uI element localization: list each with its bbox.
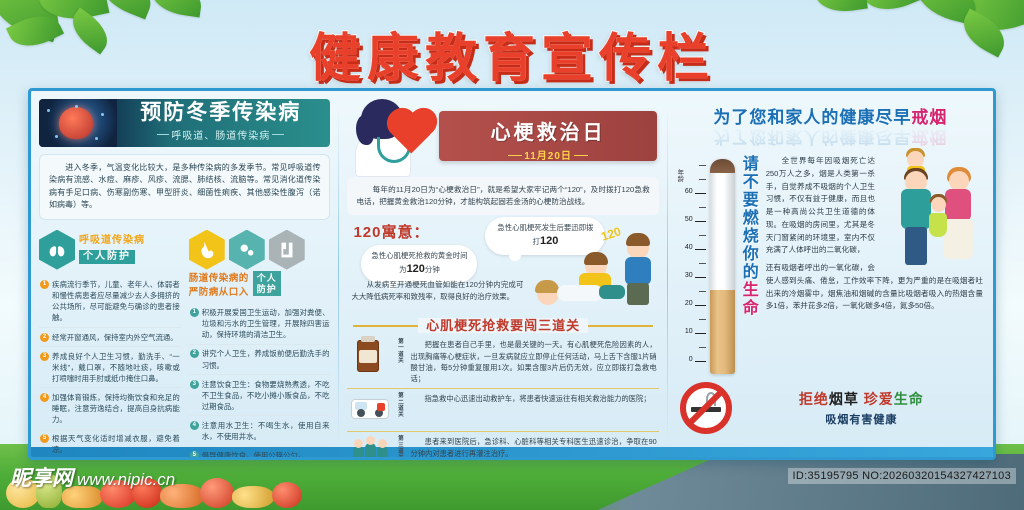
age-tick-0: 0 (689, 356, 693, 363)
pass-tag-2: 第二道关 (396, 393, 405, 418)
list-item-text: 积极开展爱国卫生运动，加强对粪便、垃圾和污水的卫生管理，开展除四害运动，保持环境… (202, 307, 330, 340)
list-item: 3注意饮食卫生：食物要烧熟煮透，不吃不卫生食品，不吃小摊小贩食品，不吃过期食品。 (189, 375, 331, 416)
ambulance-icon (349, 393, 391, 427)
intestinal-badge-text-row: 肠道传染病的 严防病从口入 个人 防护 (189, 268, 331, 300)
cigarette-ash (710, 159, 735, 173)
no-smoking-icon (680, 382, 732, 434)
quit-smoking-footer: 拒绝烟草 珍爱生命 吸烟有害健康 (676, 382, 985, 434)
three-pass-title: 心肌梗死抢救要闯三道关 (418, 318, 588, 333)
slogan-tobacco: 烟草 (829, 391, 859, 407)
section-120-meaning: 120寓意： 急性心肌梗死发生后要迅即拨打120 急性心肌梗死抢救的黄金时间为1… (347, 217, 658, 313)
list-item-text: 养成良好个人卫生习惯，勤洗手、“一米线”，戴口罩，不随地吐痰，咳嗽或打喷嚏时用手… (52, 351, 180, 384)
slogan-refuse: 拒绝 (799, 391, 829, 407)
watermark-left: 昵享网 www.nipic.cn (10, 462, 175, 492)
watermark-id: ID:35195795 NO:20260320154327427103 (788, 468, 1016, 484)
respiratory-art-icon (39, 99, 117, 147)
slogan-life: 生命 (894, 391, 924, 407)
intestinal-badge-row (189, 228, 331, 272)
stomach-icon (189, 230, 225, 270)
pass-tag-3: 第三道关 (396, 436, 405, 460)
vertical-slogan-red: 生命 (740, 281, 757, 317)
heart-day-date: 11月20日 (508, 147, 588, 162)
heart-day-banner: 心梗救治日 11月20日 (439, 111, 656, 161)
age-tick-60: 60 (685, 188, 693, 195)
zigzag-120-label: 120 (599, 225, 622, 245)
medicine-bottle-icon (349, 339, 391, 373)
section-120-title: 120寓意： (353, 221, 429, 242)
list-item: 5根据天气变化适时增减衣服，避免着凉。 (39, 430, 181, 460)
panel-quit-smoking: 为了您和家人的健康尽早戒烟 为了您和家人的健康尽早戒烟 年龄 60 50 40 (668, 91, 993, 457)
list-item: 1积极开展爱国卫生运动，加强对粪便、垃圾和污水的卫生管理，开展除四害运动，保持环… (189, 304, 331, 345)
cigarette-filter (710, 290, 735, 374)
list-item: 4注意用水卫生：不喝生水，使用自来水，不使用井水。 (189, 416, 331, 446)
medical-team-icon (349, 436, 391, 460)
doctor-illustration (351, 97, 437, 175)
respiratory-badge-line1: 呼吸道传染病 (79, 235, 145, 248)
age-scale: 年龄 60 50 40 30 20 10 0 (676, 163, 706, 371)
right-panel-title-reflection: 为了您和家人的健康尽早戒烟 (676, 126, 985, 151)
list-item-text: 根据天气变化适时增减衣服，避免着凉。 (52, 433, 180, 455)
slogan-cherish: 珍爱 (864, 391, 894, 407)
list-item: 2经常开窗通风，保持室内外空气流通。 (39, 328, 181, 347)
bulletin-board: 预防冬季传染病 呼吸道、肠道传染病 进入冬季，气温变化比较大，是多种传染病的多发… (28, 88, 996, 460)
age-tick-30: 30 (685, 272, 693, 279)
cigarette-graphic (710, 159, 735, 374)
cigarette-thermometer: 年龄 60 50 40 30 20 10 0 (676, 155, 762, 380)
left-panel-subtitle: 呼吸道、肠道传染病 (157, 127, 284, 142)
personal-protection-badge: 个人 防护 (253, 271, 281, 297)
pass-text-2: 指急救中心迅速出动救护车，将患者快速运往有相关救治能力的医院； (424, 394, 650, 403)
vertical-slogan: 请不要燃烧你的生命 (736, 155, 760, 375)
pass-item-3: 第三道关 患者来到医院后，急诊科、心脏科等相关专科医生迅速诊治，争取在90分钟内… (347, 432, 658, 460)
list-item: 5倡导健康饮食，使用公筷公勺。 (189, 447, 331, 460)
list-item: 2讲究个人卫生，养成饭前便后勤洗手的习惯。 (189, 345, 331, 375)
three-pass-divider: 心肌梗死抢救要闯三道关 (347, 315, 658, 335)
page-title: 健康教育宣传栏 (0, 16, 1024, 91)
smoking-text: 全世界每年因吸烟死亡达250万人之多，烟是人类第一杀手，自觉养成不吸烟的个人卫生… (766, 155, 985, 380)
pass-text-1: 把握在患者自己手里，也是最关键的一天。有心肌梗死危险因素的人，出现胸痛等心梗症状… (410, 340, 656, 383)
smoking-paragraph-2-text: 还有吸烟者呼出的一氧化碳，会使人感到头痛、倦怠，工作效率下降，更为严重的是在吸烟… (766, 263, 983, 310)
intestine-icon (269, 230, 305, 270)
slogan-line-2: 吸烟有害健康 (738, 411, 985, 427)
heart-day-intro-text: 每年的11月20日为“心梗救治日”，就是希望大家牢记两个“120”，及时拨打12… (356, 185, 649, 206)
list-item-text: 注意用水卫生：不喝生水，使用自来水，不使用井水。 (202, 420, 330, 442)
pass-text-1-wrap: 把握在患者自己手里，也是最关键的一天。有心肌梗死危险因素的人，出现胸痛等心梗症状… (410, 339, 656, 384)
speech-bubble-1: 急性心肌梗死抢救的黄金时间为120分钟 (361, 245, 477, 283)
respiratory-badge-label: 呼吸道传染病 个人防护 (79, 235, 145, 264)
smoking-paragraph-1-text: 全世界每年因吸烟死亡达250万人之多，烟是人类第一杀手，自觉养成不吸烟的个人卫生… (766, 156, 875, 254)
right-panel-title-red: 戒烟 (911, 108, 947, 127)
heart-day-intro: 每年的11月20日为“心梗救治日”，就是希望大家牢记两个“120”，及时拨打12… (347, 177, 658, 215)
age-tick-10: 10 (685, 328, 693, 335)
list-item: 1疾病流行季节，儿童、老年人、体弱者和慢性病患者应尽量减少去人多拥挤的公共场所，… (39, 276, 181, 328)
list-item-text: 讲究个人卫生，养成饭前便后勤洗手的习惯。 (202, 348, 330, 370)
pass-text-2-wrap: 指急救中心迅速出动救护车，将患者快速运往有相关救治能力的医院； (410, 393, 650, 404)
slogan-line-1: 拒绝烟草 珍爱生命 (738, 389, 985, 409)
panel-winter-infectious-disease: 预防冬季传染病 呼吸道、肠道传染病 进入冬季，气温变化比较大，是多种传染病的多发… (31, 91, 338, 457)
age-tick-40: 40 (685, 244, 693, 251)
age-tick-20: 20 (685, 300, 693, 307)
watermark-logo: 昵享网 (10, 462, 73, 492)
pass-text-3: 患者来到医院后，急诊科、心脏科等相关专科医生迅速诊治，争取在90分钟内对患者进行… (410, 437, 656, 457)
section-120-note-text: 从发病至开通梗死血管如能在120分钟内完成可大大降低病死率和致残率，取得良好的治… (351, 280, 523, 300)
intestinal-column: 肠道传染病的 严防病从口入 个人 防护 1积极开展爱国卫生运动，加强对粪便、垃圾… (189, 228, 331, 460)
pass-tag-1: 第一道关 (396, 339, 405, 364)
list-item: 4加强体育锻炼，保持均衡饮食和充足的睡眠，注意劳逸结合，提高自身抗病能力。 (39, 388, 181, 429)
lungs-icon (39, 230, 75, 270)
right-panel-body: 年龄 60 50 40 30 20 10 0 (676, 155, 985, 380)
list-item-text: 加强体育锻炼，保持均衡饮食和充足的睡眠，注意劳逸结合，提高自身抗病能力。 (52, 392, 180, 425)
age-tick-50: 50 (685, 216, 693, 223)
germ-icon (229, 230, 265, 270)
personal-protection-line2: 防护 (257, 284, 277, 295)
speech-bubble-1-unit: 分钟 (425, 265, 440, 274)
smoking-paragraph-2: 还有吸烟者呼出的一氧化碳，会使人感到头痛、倦怠，工作效率下降，更为严重的是在吸烟… (766, 262, 983, 313)
respiratory-column: 呼吸道传染病 个人防护 1疾病流行季节，儿童、老年人、体弱者和慢性病患者应尽量减… (39, 228, 181, 460)
left-panel-intro: 进入冬季，气温变化比较大，是多种传染病的多发季节。常见呼吸道传染病有流感、水痘、… (39, 154, 330, 220)
left-panel-intro-text: 进入冬季，气温变化比较大，是多种传染病的多发季节。常见呼吸道传染病有流感、水痘、… (49, 163, 320, 209)
respiratory-badge-row: 呼吸道传染病 个人防护 (39, 228, 181, 272)
panel-heart-attack-day: 心梗救治日 11月20日 每年的11月20日为“心梗救治日”，就是希望大家牢记两… (339, 91, 666, 457)
right-panel-title-blue: 为了您和家人的健康尽早 (713, 108, 911, 127)
left-panel-header: 预防冬季传染病 呼吸道、肠道传染病 (39, 99, 330, 147)
right-panel-header: 为了您和家人的健康尽早戒烟 为了您和家人的健康尽早戒烟 (676, 99, 985, 151)
quit-smoking-slogan: 拒绝烟草 珍爱生命 吸烟有害健康 (738, 389, 985, 427)
section-120-note: 从发病至开通梗死血管如能在120分钟内完成可大大降低病死率和致残率，取得良好的治… (351, 279, 523, 302)
respiratory-items: 1疾病流行季节，儿童、老年人、体弱者和慢性病患者应尽量减少去人多拥挤的公共场所，… (39, 276, 181, 460)
list-item-text: 倡导健康饮食，使用公筷公勺。 (202, 450, 305, 460)
list-item-text: 疾病流行季节，儿童、老年人、体弱者和慢性病患者应尽量减少去人多拥挤的公共场所，尽… (52, 279, 180, 323)
speech-bubble-1-number: 120 (407, 263, 425, 275)
watermark-url: www.nipic.cn (77, 470, 175, 490)
intestinal-badge-line1: 肠道传染病的 (189, 270, 249, 284)
vertical-slogan-blue: 请不要燃烧你的 (740, 155, 757, 281)
pass-item-2: 第二道关 指急救中心迅速出动救护车，将患者快速运往有相关救治能力的医院； (347, 389, 658, 432)
respiratory-badge-line2: 个人防护 (79, 250, 135, 265)
left-panel-title: 预防冬季传染病 (117, 102, 324, 124)
middle-panel-header: 心梗救治日 11月20日 (347, 99, 658, 173)
heart-day-title: 心梗救治日 (439, 116, 656, 145)
right-panel-title: 为了您和家人的健康尽早戒烟 (676, 103, 985, 128)
pass-text-3-wrap: 患者来到医院后，急诊科、心脏科等相关专科医生迅速诊治，争取在90分钟内对患者进行… (410, 436, 656, 459)
list-item-text: 注意饮食卫生：食物要烧熟煮透，不吃不卫生食品，不吃小摊小贩食品，不吃过期食品。 (202, 379, 330, 412)
intestinal-items: 1积极开展爱国卫生运动，加强对粪便、垃圾和污水的卫生管理，开展除四害运动，保持环… (189, 304, 331, 460)
family-illustration (879, 155, 983, 267)
page-title-wrap: 健康教育宣传栏 (0, 16, 1024, 91)
age-scale-label: 年龄 (674, 169, 684, 182)
kids-illustration: 120 (529, 225, 659, 313)
list-item: 3养成良好个人卫生习惯，勤洗手、“一米线”，戴口罩，不随地吐痰，咳嗽或打喷嚏时用… (39, 347, 181, 388)
personal-protection-line1: 个人 (257, 273, 277, 284)
pass-item-1: 第一道关 把握在患者自己手里，也是最关键的一天。有心肌梗死危险因素的人，出现胸痛… (347, 335, 658, 389)
intestinal-badge-line2: 严防病从口入 (189, 284, 249, 298)
list-item-text: 经常开窗通风，保持室内外空气流通。 (52, 332, 178, 343)
